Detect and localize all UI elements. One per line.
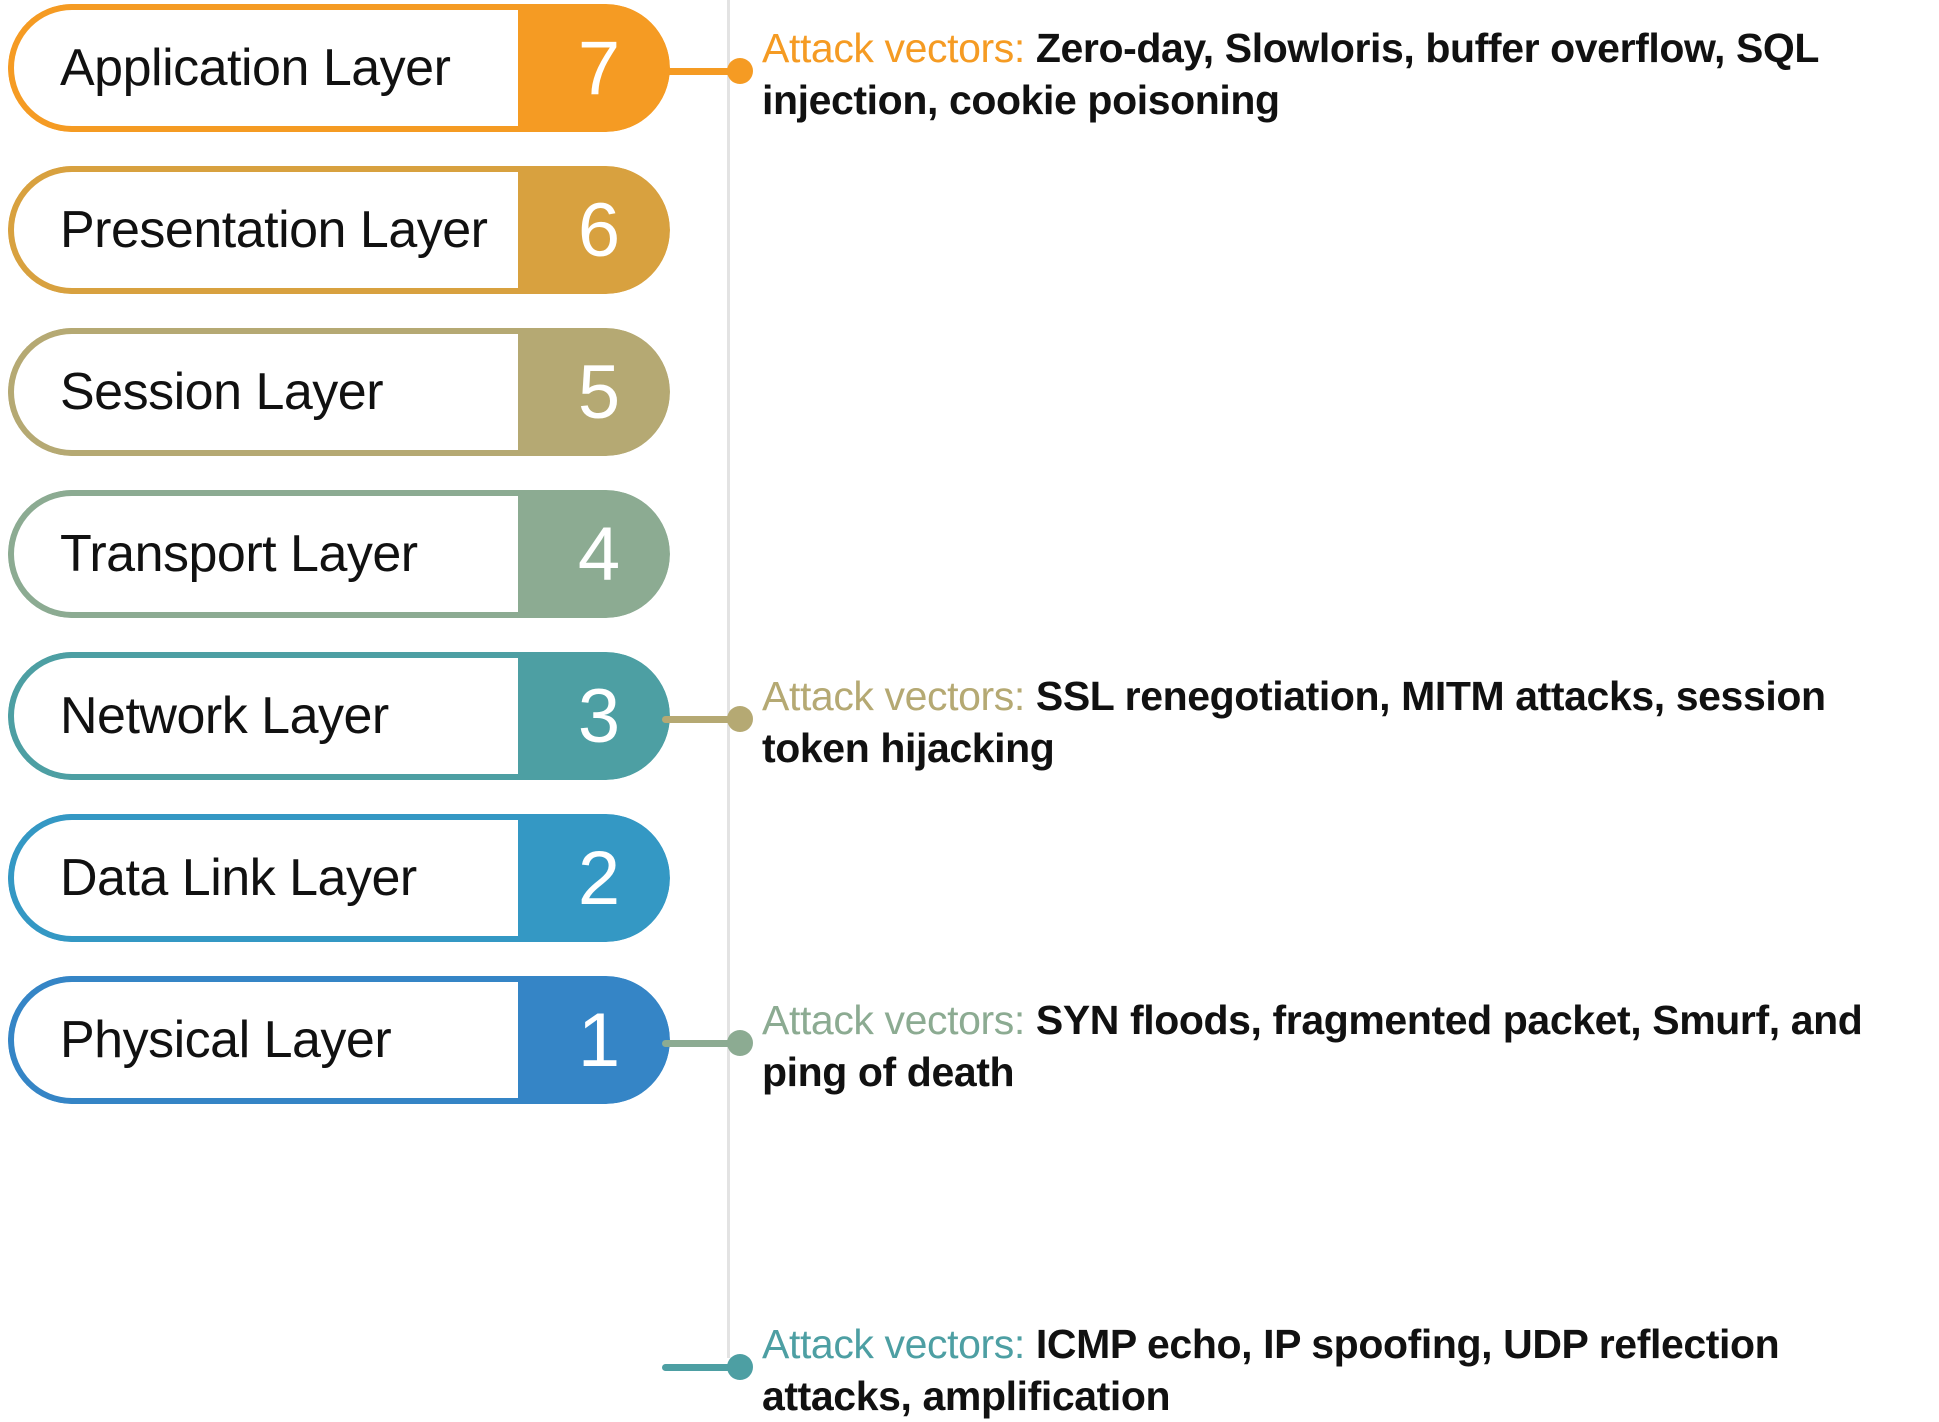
layer-number-badge: 3 <box>518 652 670 780</box>
osi-layer-row-transport-layer[interactable]: Transport Layer4 <box>8 490 670 618</box>
vertical-divider <box>727 0 730 1358</box>
layer-name-label: Physical Layer <box>60 976 391 1104</box>
layer-number-badge: 4 <box>518 490 670 618</box>
layer-pill: Presentation Layer6 <box>8 166 670 294</box>
layer-pill: Network Layer3 <box>8 652 670 780</box>
layer-pill: Transport Layer4 <box>8 490 670 618</box>
layer-pill: Data Link Layer2 <box>8 814 670 942</box>
attack-vectors-label: Attack vectors: <box>762 25 1025 71</box>
osi-layer-row-data-link-layer[interactable]: Data Link Layer2 <box>8 814 670 942</box>
attack-vectors-annotation: Attack vectors: SYN floods, fragmented p… <box>762 994 1932 1098</box>
layer-pill: Application Layer7 <box>8 4 670 132</box>
layer-number-badge: 7 <box>518 4 670 132</box>
layer-name-label: Network Layer <box>60 652 389 780</box>
layer-name-label: Presentation Layer <box>60 166 488 294</box>
attack-vectors-label: Attack vectors: <box>762 673 1025 719</box>
layer-pill: Physical Layer1 <box>8 976 670 1104</box>
osi-layer-row-presentation-layer[interactable]: Presentation Layer6 <box>8 166 670 294</box>
layer-name-label: Data Link Layer <box>60 814 417 942</box>
layer-number-badge: 5 <box>518 328 670 456</box>
connector-dot <box>727 1030 753 1056</box>
connector-dot <box>727 58 753 84</box>
osi-diagram-canvas: Application Layer7Presentation Layer6Ses… <box>0 0 1939 1358</box>
attack-vectors-label: Attack vectors: <box>762 1321 1025 1367</box>
layer-number-badge: 6 <box>518 166 670 294</box>
attack-vectors-annotation: Attack vectors: ICMP echo, IP spoofing, … <box>762 1318 1932 1422</box>
layer-number-badge: 2 <box>518 814 670 942</box>
layer-number-badge: 1 <box>518 976 670 1104</box>
connector-dot <box>727 706 753 732</box>
attack-vectors-label: Attack vectors: <box>762 997 1025 1043</box>
attack-vectors-annotation: Attack vectors: SSL renegotiation, MITM … <box>762 670 1932 774</box>
layer-name-label: Application Layer <box>60 4 450 132</box>
osi-layer-row-network-layer[interactable]: Network Layer3 <box>8 652 670 780</box>
osi-layer-row-physical-layer[interactable]: Physical Layer1 <box>8 976 670 1104</box>
layer-name-label: Transport Layer <box>60 490 418 618</box>
attack-vectors-annotation: Attack vectors: Zero-day, Slowloris, buf… <box>762 22 1932 126</box>
osi-layer-row-session-layer[interactable]: Session Layer5 <box>8 328 670 456</box>
layer-name-label: Session Layer <box>60 328 383 456</box>
osi-layer-row-application-layer[interactable]: Application Layer7 <box>8 4 670 132</box>
layer-pill: Session Layer5 <box>8 328 670 456</box>
